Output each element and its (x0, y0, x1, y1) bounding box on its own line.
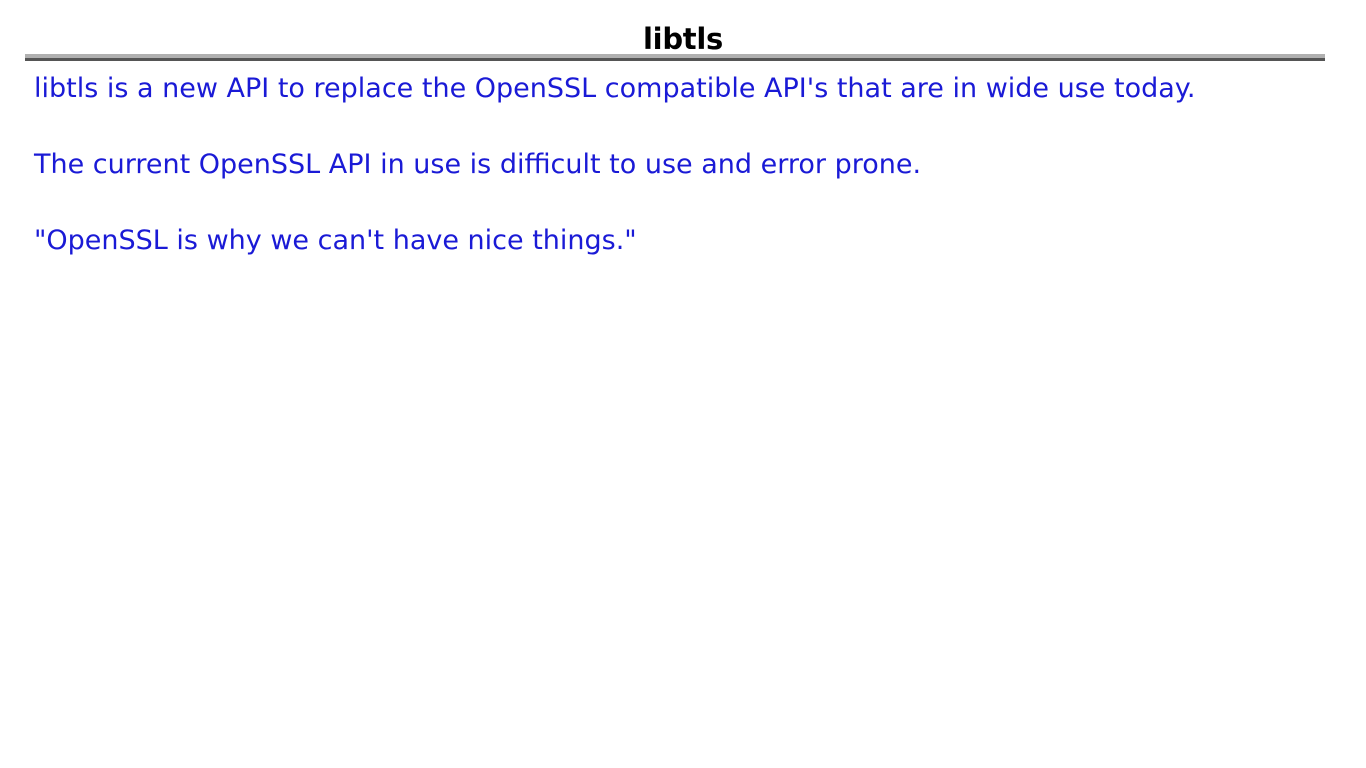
divider-band-dark (25, 58, 1325, 61)
slide-body: libtls is a new API to replace the OpenS… (34, 70, 1334, 260)
slide-title: libtls (0, 22, 1366, 56)
title-divider-rule (25, 54, 1325, 61)
presentation-slide: libtls libtls is a new API to replace th… (0, 0, 1366, 768)
body-line-2: The current OpenSSL API in use is diffic… (34, 146, 1334, 184)
body-line-1: libtls is a new API to replace the OpenS… (34, 70, 1334, 108)
body-line-3: "OpenSSL is why we can't have nice thing… (34, 222, 1334, 260)
